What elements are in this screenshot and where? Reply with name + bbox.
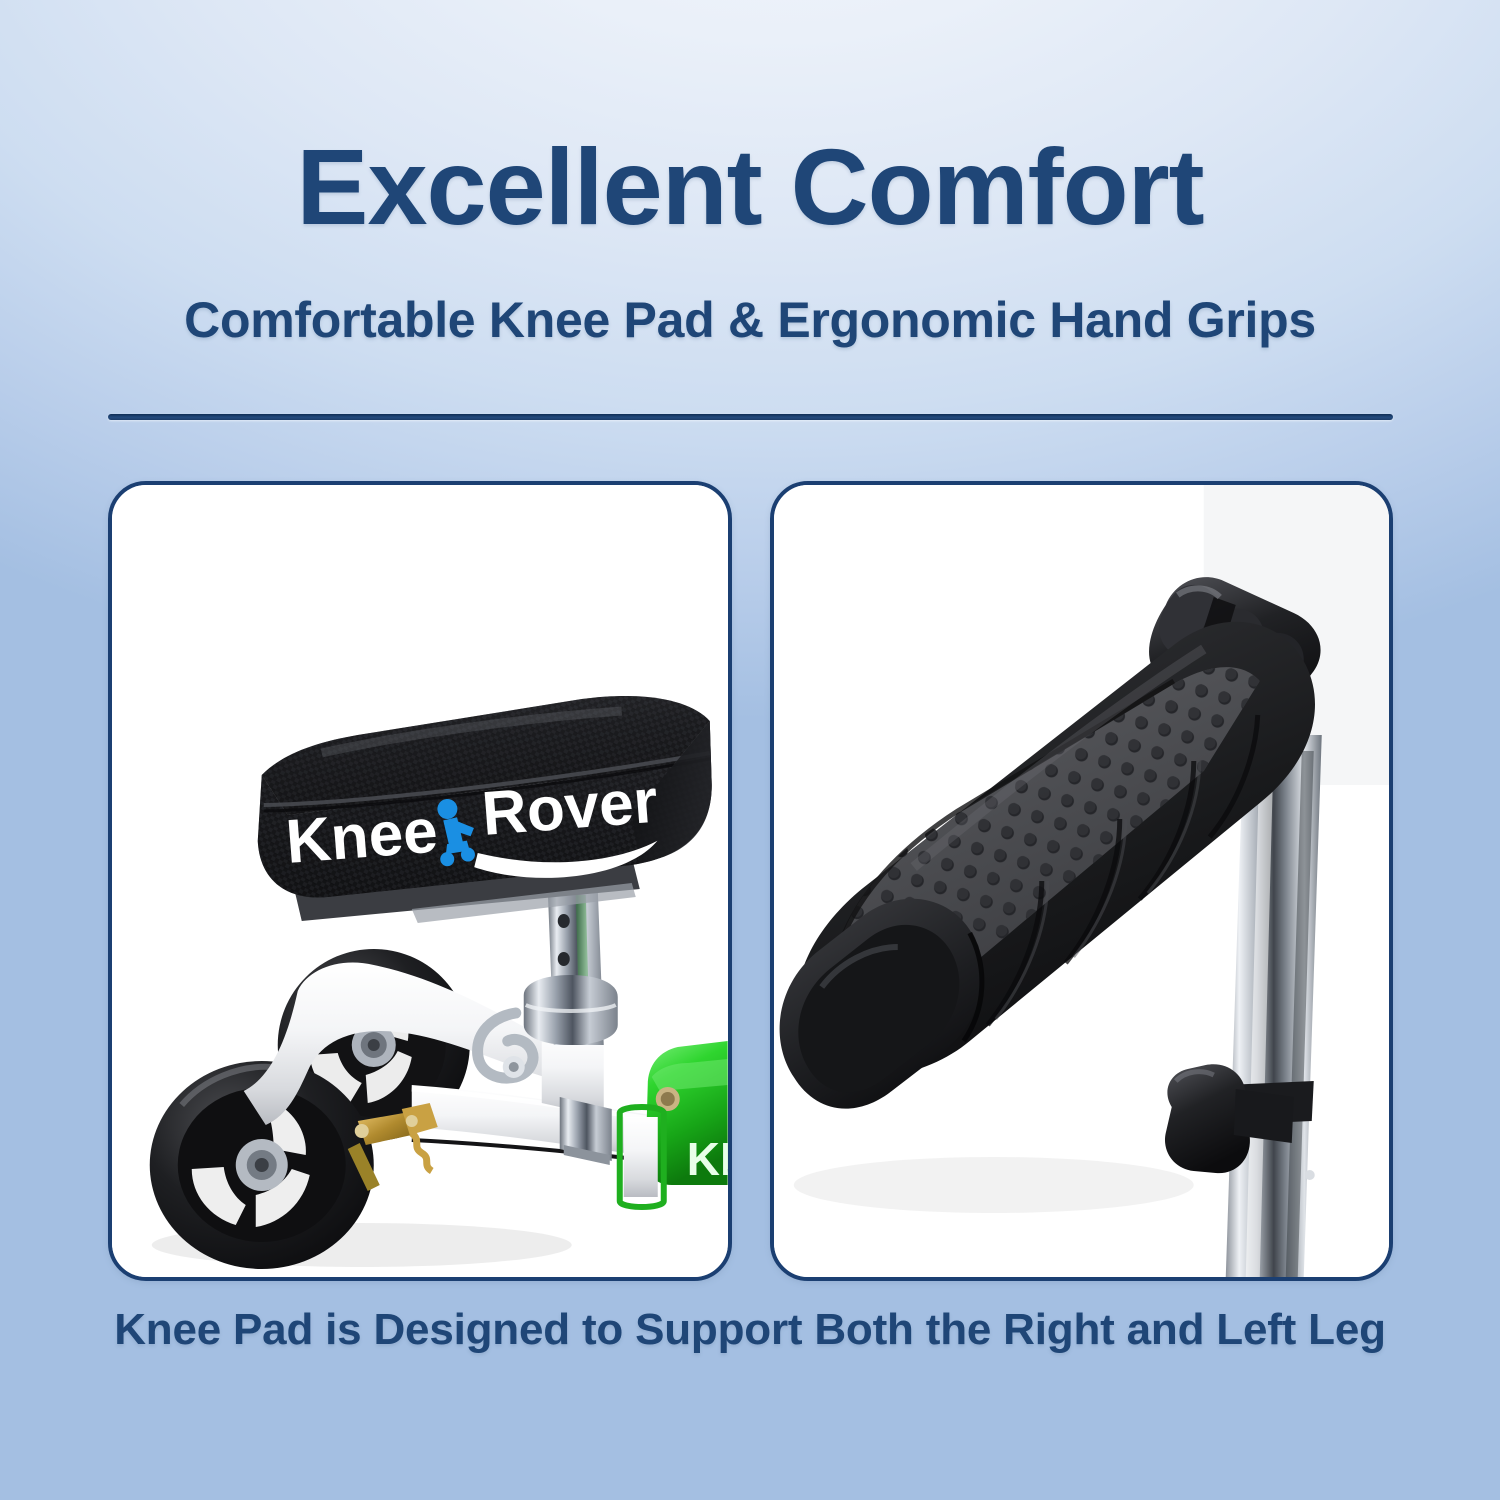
product-infographic: Excellent Comfort Comfortable Knee Pad &… xyxy=(0,0,1500,1500)
logo-word-knee: Knee xyxy=(284,797,440,877)
knee-pad-illustration: KN xyxy=(112,485,728,1277)
frame-brand-text: KN xyxy=(687,1133,728,1185)
hand-grip-photo xyxy=(774,485,1390,1277)
logo-word-rover: Rover xyxy=(480,767,661,849)
knee-pad-photo: KN xyxy=(112,485,728,1277)
panel-row: KN xyxy=(108,481,1393,1281)
footer-caption: Knee Pad is Designed to Support Both the… xyxy=(0,1305,1500,1355)
header: Excellent Comfort Comfortable Knee Pad &… xyxy=(0,0,1500,349)
knee-pad-panel: KN xyxy=(108,481,732,1281)
hand-grip-panel xyxy=(770,481,1394,1281)
page-title: Excellent Comfort xyxy=(0,130,1500,243)
header-divider xyxy=(108,414,1393,420)
hand-grip-illustration xyxy=(774,485,1390,1277)
page-subtitle: Comfortable Knee Pad & Ergonomic Hand Gr… xyxy=(0,291,1500,349)
